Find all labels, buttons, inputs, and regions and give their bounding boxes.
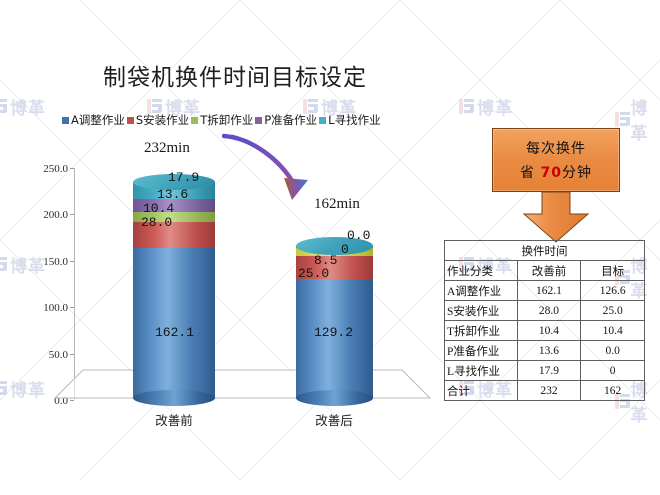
table-cell-target: 126.6 [581, 281, 645, 301]
table-cell-before: 10.4 [517, 321, 581, 341]
table-col-category: 作业分类 [445, 261, 518, 281]
table-cell-before: 17.9 [517, 361, 581, 381]
bar-total-before: 232min [144, 140, 190, 157]
y-tickmark-50 [70, 354, 74, 355]
table-row: P准备作业 13.6 0.0 [445, 341, 645, 361]
watermark: 博革 [459, 94, 513, 119]
legend-label-l: L寻找作业 [328, 112, 380, 128]
watermark-text: 博革 [10, 94, 46, 119]
table-cell-category: T拆卸作业 [445, 321, 518, 341]
bar-label-t-before: 10.4 [143, 201, 174, 216]
table-cell-category: S安装作业 [445, 301, 518, 321]
table-cell-before: 28.0 [517, 301, 581, 321]
table-cell-before: 232 [517, 381, 581, 401]
table-cell-target: 0.0 [581, 341, 645, 361]
x-axis-label-after: 改善后 [288, 410, 380, 429]
bar-label-s-before: 28.0 [141, 215, 172, 230]
bogé-logo-icon [459, 98, 474, 115]
legend-label-p: P准备作业 [264, 112, 317, 128]
table-row: T拆卸作业 10.4 10.4 [445, 321, 645, 341]
legend-item-p[interactable]: P准备作业 [255, 112, 317, 128]
y-tickmark-100 [70, 307, 74, 308]
bar-label-l-after: 0.0 [347, 228, 370, 243]
legend-label-t: T拆卸作业 [200, 112, 253, 128]
savings-callout-arrow [492, 192, 620, 244]
bogé-logo-icon [0, 256, 7, 273]
bogé-logo-icon [615, 111, 627, 128]
legend-item-l[interactable]: L寻找作业 [319, 112, 380, 128]
table-row: L寻找作业 17.9 0 [445, 361, 645, 381]
bar-before[interactable]: 162.1 28.0 10.4 13.6 17.9 [133, 162, 215, 402]
bogé-logo-icon [0, 98, 7, 115]
table-cell-before: 13.6 [517, 341, 581, 361]
savings-suffix: 分钟 [562, 165, 592, 181]
legend-item-s[interactable]: S安装作业 [127, 112, 189, 128]
bar-label-a-before: 162.1 [155, 325, 194, 340]
chart-legend: A调整作业 S安装作业 T拆卸作业 P准备作业 L寻找作业 [62, 112, 442, 128]
table-cell-target: 162 [581, 381, 645, 401]
legend-swatch-t [191, 117, 198, 124]
watermark: 博革 [0, 94, 46, 119]
table-cell-category: L寻找作业 [445, 361, 518, 381]
table-cell-category: 合计 [445, 381, 518, 401]
table-cell-target: 25.0 [581, 301, 645, 321]
bar-total-after: 162min [314, 196, 360, 213]
slide-canvas: 博革 博革 博革 博革 博革 博革 博革 博革 博革 博革 博革 博革 博革 博… [0, 0, 660, 495]
savings-minutes: 70 [540, 165, 561, 181]
table-cell-target: 10.4 [581, 321, 645, 341]
bar-label-p-before: 13.6 [157, 187, 188, 202]
table-col-before: 改善前 [517, 261, 581, 281]
table-title-row: 换件时间 [445, 241, 645, 261]
y-tick-150: 150.0 [20, 256, 68, 268]
savings-callout: 每次换件 省 70分钟 [492, 128, 620, 244]
table-cell-before: 162.1 [517, 281, 581, 301]
table-title: 换件时间 [445, 241, 645, 261]
y-tick-200: 200.0 [20, 209, 68, 221]
table-cell-target: 0 [581, 361, 645, 381]
table-cell-category: A调整作业 [445, 281, 518, 301]
legend-swatch-p [255, 117, 262, 124]
legend-item-a[interactable]: A调整作业 [62, 112, 125, 128]
legend-swatch-a [62, 117, 69, 124]
y-tick-100: 100.0 [20, 302, 68, 314]
table-cell-category: P准备作业 [445, 341, 518, 361]
bar-label-l-before: 17.9 [168, 170, 199, 185]
page-title: 制袋机换件时间目标设定 [0, 58, 470, 92]
table-header-row: 作业分类 改善前 目标 [445, 261, 645, 281]
bar-segment-a-before [133, 248, 215, 398]
bogé-logo-icon [0, 380, 7, 397]
changeover-time-table: 换件时间 作业分类 改善前 目标 A调整作业 162.1 126.6 S安装作业… [444, 240, 645, 401]
legend-swatch-l [319, 117, 326, 124]
bar-segment-l-after [296, 246, 373, 247]
x-axis-label-before: 改善前 [128, 410, 220, 429]
bar-label-p-after: 0 [341, 242, 349, 257]
bar-label-a-after: 129.2 [314, 325, 353, 340]
y-tickmark-200 [70, 214, 74, 215]
bar-after[interactable]: 129.2 25.0 8.5 0 0.0 [296, 230, 373, 402]
y-tickmark-250 [70, 168, 74, 169]
table-total-row: 合计 232 162 [445, 381, 645, 401]
savings-callout-box: 每次换件 省 70分钟 [492, 128, 620, 192]
table-col-target: 目标 [581, 261, 645, 281]
legend-swatch-s [127, 117, 134, 124]
legend-item-t[interactable]: T拆卸作业 [191, 112, 253, 128]
chart-floor-3d [50, 365, 440, 403]
legend-label-a: A调整作业 [71, 112, 125, 128]
watermark-text: 博革 [630, 94, 660, 144]
watermark-text: 博革 [477, 94, 513, 119]
y-tick-50: 50.0 [20, 349, 68, 361]
bar-label-t-after: 8.5 [314, 253, 337, 268]
y-tick-250: 250.0 [20, 163, 68, 175]
savings-callout-line2: 省 70分钟 [520, 162, 592, 182]
watermark: 博革 [615, 94, 660, 144]
legend-label-s: S安装作业 [136, 112, 189, 128]
y-tickmark-150 [70, 261, 74, 262]
savings-prefix: 省 [520, 165, 540, 181]
table-row: A调整作业 162.1 126.6 [445, 281, 645, 301]
table-row: S安装作业 28.0 25.0 [445, 301, 645, 321]
savings-callout-line1: 每次换件 [526, 138, 586, 158]
bar-label-s-after: 25.0 [298, 266, 329, 281]
